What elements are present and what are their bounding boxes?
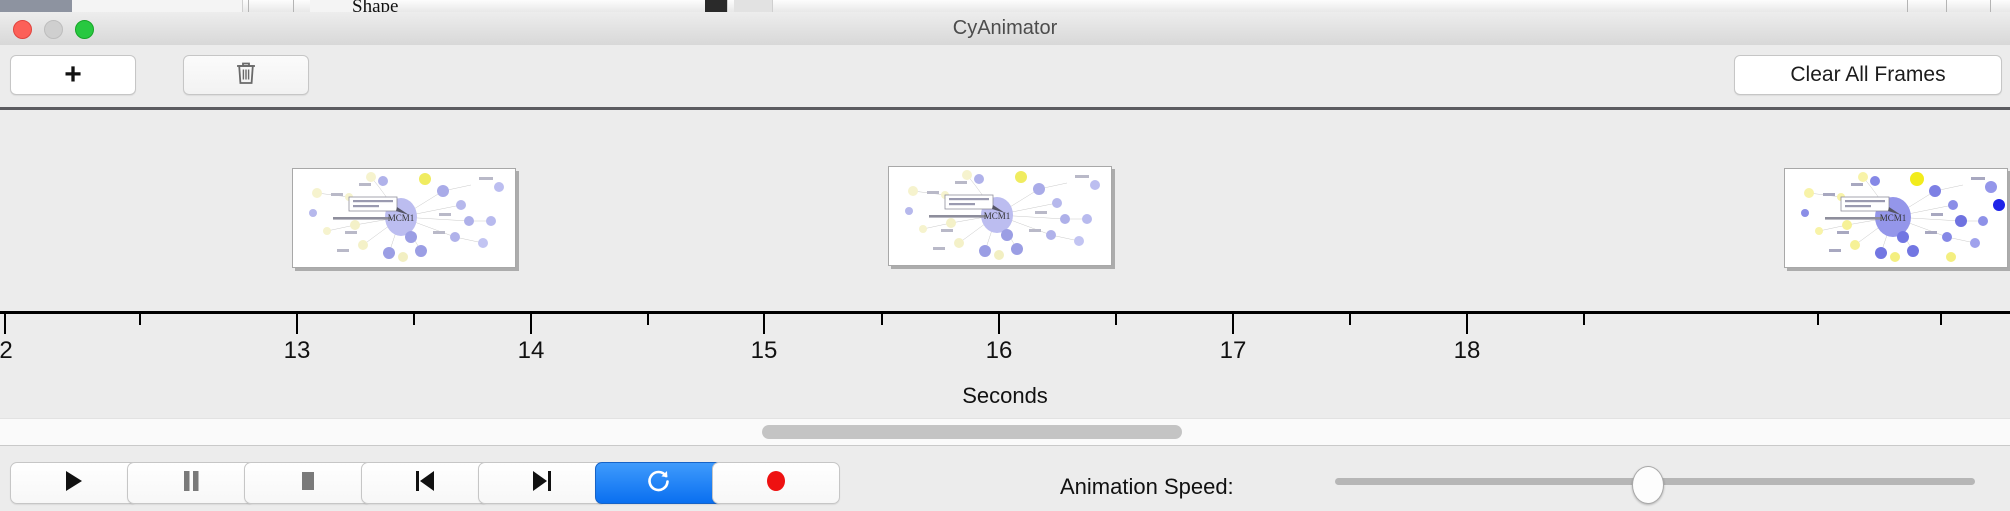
axis-tick-minor bbox=[413, 314, 415, 325]
axis-tick-minor bbox=[1349, 314, 1351, 325]
add-frame-button[interactable]: + bbox=[10, 55, 136, 95]
loop-icon bbox=[646, 468, 672, 499]
stop-button[interactable] bbox=[244, 462, 372, 504]
skip-previous-button[interactable] bbox=[361, 462, 489, 504]
timeline-scrollbar[interactable] bbox=[0, 418, 2010, 446]
skip-next-icon bbox=[530, 469, 554, 498]
clear-all-frames-button[interactable]: Clear All Frames bbox=[1734, 55, 2002, 95]
scrollbar-thumb[interactable] bbox=[762, 425, 1182, 439]
play-icon bbox=[63, 469, 85, 498]
axis-line bbox=[0, 311, 2010, 314]
record-button[interactable] bbox=[712, 462, 840, 504]
axis-tick-minor bbox=[881, 314, 883, 325]
axis-tick-minor bbox=[1583, 314, 1585, 325]
stop-icon bbox=[297, 469, 319, 498]
axis-tick-major bbox=[763, 314, 765, 334]
axis-label: 17 bbox=[1220, 337, 1247, 365]
background-tick bbox=[1990, 0, 1991, 12]
background-tick bbox=[293, 0, 294, 12]
background-window-text: Shape bbox=[352, 0, 398, 12]
skip-next-button[interactable] bbox=[478, 462, 606, 504]
background-tick bbox=[1946, 0, 1947, 12]
skip-previous-icon bbox=[413, 469, 437, 498]
svg-text:MCM1: MCM1 bbox=[388, 213, 415, 223]
axis-title: Seconds bbox=[0, 383, 2010, 409]
axis-tick-minor bbox=[1115, 314, 1117, 325]
axis-tick-major bbox=[296, 314, 298, 334]
background-window-strip: Shape bbox=[0, 0, 2010, 12]
axis-tick-major bbox=[4, 314, 6, 334]
background-tick bbox=[248, 0, 249, 12]
frame-thumbnail[interactable]: MCM1 bbox=[1784, 168, 2008, 268]
svg-text:MCM1: MCM1 bbox=[984, 211, 1011, 221]
clear-all-frames-label: Clear All Frames bbox=[1790, 63, 1945, 87]
loop-button[interactable] bbox=[595, 462, 723, 504]
axis-label: 15 bbox=[751, 337, 778, 365]
trash-icon bbox=[234, 60, 258, 91]
background-chunk bbox=[182, 0, 243, 12]
background-chunk bbox=[0, 0, 73, 12]
axis-label: 18 bbox=[1454, 337, 1481, 365]
axis-tick-minor bbox=[647, 314, 649, 325]
cyanimator-window: Shape CyAnimator + Clear All Frame bbox=[0, 0, 2010, 510]
background-chunk bbox=[705, 0, 728, 12]
axis-tick-minor bbox=[139, 314, 141, 325]
plus-icon: + bbox=[64, 60, 82, 90]
play-button[interactable] bbox=[10, 462, 138, 504]
animation-speed-label: Animation Speed: bbox=[1060, 474, 1234, 500]
axis-tick-major bbox=[530, 314, 532, 334]
axis-tick-major bbox=[998, 314, 1000, 334]
title-bar: CyAnimator bbox=[0, 12, 2010, 46]
window-title: CyAnimator bbox=[0, 12, 2010, 45]
pause-icon bbox=[180, 469, 202, 498]
axis-label: 16 bbox=[986, 337, 1013, 365]
axis-tick-major bbox=[1232, 314, 1234, 334]
background-chunk bbox=[72, 0, 183, 12]
timeline-axis: 2 13 14 15 16 17 18 Seconds bbox=[0, 311, 2010, 421]
record-icon bbox=[764, 469, 788, 498]
axis-label: 13 bbox=[284, 337, 311, 365]
axis-tick-minor bbox=[1817, 314, 1819, 325]
svg-text:MCM1: MCM1 bbox=[1880, 213, 1907, 223]
background-chunk bbox=[734, 0, 773, 12]
pause-button[interactable] bbox=[127, 462, 255, 504]
background-tick bbox=[1907, 0, 1908, 12]
delete-frame-button[interactable] bbox=[183, 55, 309, 95]
axis-label: 2 bbox=[0, 337, 13, 365]
axis-tick-minor bbox=[1940, 314, 1942, 325]
frame-thumbnail[interactable]: MCM1 bbox=[292, 168, 516, 268]
axis-tick-major bbox=[1466, 314, 1468, 334]
animation-speed-slider-thumb[interactable] bbox=[1632, 466, 1664, 504]
frame-thumbnail[interactable]: MCM1 bbox=[888, 166, 1112, 266]
timeline-track[interactable]: MCM1 bbox=[0, 110, 2010, 313]
axis-label: 14 bbox=[518, 337, 545, 365]
